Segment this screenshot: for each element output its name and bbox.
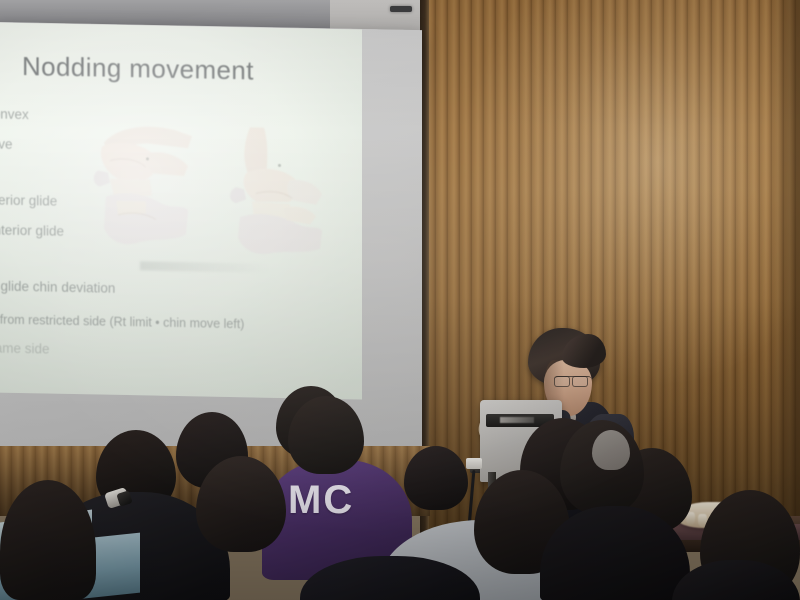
amplifier-label [500,417,534,423]
podium-small-box [466,458,482,469]
slide-bullet-1: convex [0,106,29,122]
figure-marker-left [146,157,149,160]
slide-bullet-4: anterior glide [0,222,64,238]
slide-bullet-5: ent glide chin deviation [0,278,115,296]
cervical-vertebra-right-figure [222,119,328,261]
slide-bullet-6: way from restricted side (Rt limit • chi… [0,312,244,331]
slide-title: Nodding movement [22,51,254,86]
cervical-vertebra-left-figure [88,116,194,258]
ceiling-fixture-icon [390,6,412,12]
slide-bullet-7: same side [0,340,50,356]
glasses-bridge-icon [554,376,592,385]
slide-bullet-2: cave [0,136,13,152]
shirt-text: MC [288,478,354,523]
audience-head [592,430,630,470]
figure-caption-strip [140,261,270,272]
figure-marker-right [278,164,281,167]
slide-bullet-3: osterior glide [0,192,57,208]
projected-slide: Nodding movement convex cave osterior gl… [0,22,362,399]
wall-right-shadow [770,0,800,540]
lecture-hall-photo: Nodding movement convex cave osterior gl… [0,0,800,600]
